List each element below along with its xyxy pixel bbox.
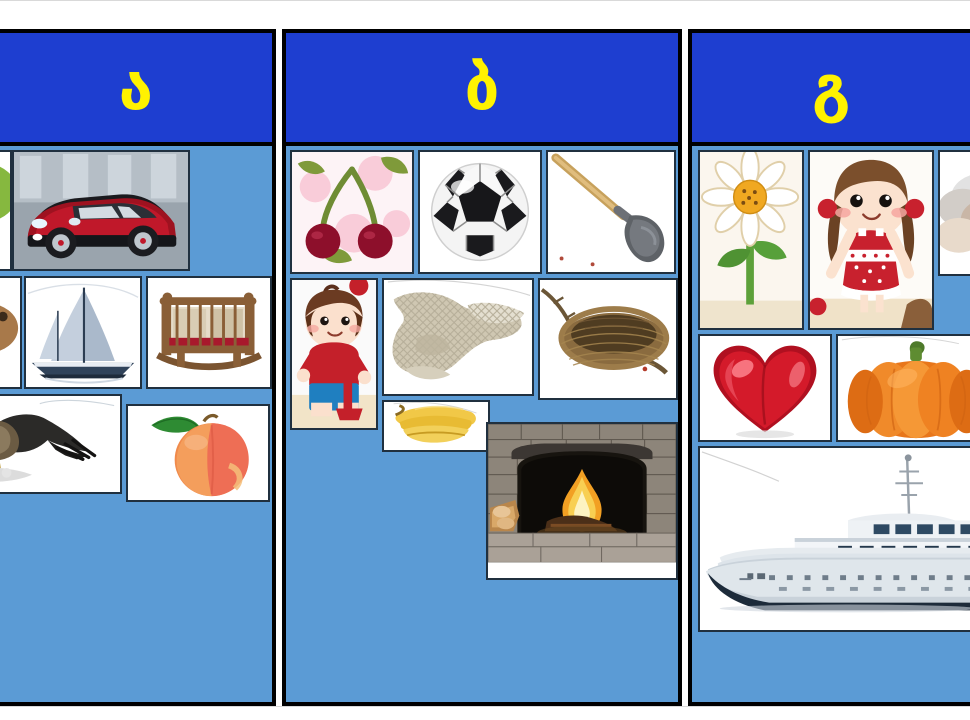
tree-icon xyxy=(0,152,10,269)
ship-art xyxy=(700,448,970,630)
girl-icon xyxy=(810,152,932,328)
daisy-icon xyxy=(700,152,802,328)
picture-tile-car[interactable] xyxy=(12,150,190,271)
ship-icon xyxy=(700,448,970,630)
tree-art xyxy=(0,152,10,269)
daisy-art xyxy=(700,152,802,328)
eagle-art xyxy=(0,396,120,492)
nest-art xyxy=(540,280,676,398)
heart-icon xyxy=(700,336,830,440)
peach-art xyxy=(128,406,268,500)
picture-tile-camel-partial[interactable] xyxy=(0,276,22,389)
column-header-bani: ბ xyxy=(286,33,679,146)
shovel-art xyxy=(548,152,674,272)
cloud-art xyxy=(940,152,970,274)
sailboat-icon xyxy=(26,278,140,387)
pumpkin-icon xyxy=(838,336,970,440)
picture-tile-cherries[interactable] xyxy=(290,150,414,274)
bottom-divider xyxy=(0,706,970,707)
net-art xyxy=(384,280,532,394)
bananas-art xyxy=(384,402,488,450)
picture-tile-cradle[interactable] xyxy=(146,276,272,389)
letter-column-ani[interactable]: ა xyxy=(0,29,276,706)
net-icon xyxy=(384,280,532,394)
nest-icon xyxy=(540,280,676,398)
soccer-ball-art xyxy=(420,152,540,272)
camel-art xyxy=(0,278,20,387)
picture-tile-heart[interactable] xyxy=(698,334,832,442)
picture-tile-nest[interactable] xyxy=(538,278,678,400)
cherries-art xyxy=(292,152,412,272)
picture-tile-soccer-ball[interactable] xyxy=(418,150,542,274)
letter-board: ა xyxy=(0,29,970,706)
pumpkin-art xyxy=(838,336,970,440)
column-body-gani xyxy=(692,146,970,702)
picture-tile-shovel[interactable] xyxy=(546,150,676,274)
fireplace-art xyxy=(488,424,676,578)
picture-tile-eagle[interactable] xyxy=(0,394,122,494)
picture-tile-net[interactable] xyxy=(382,278,534,396)
picture-tile-daisy[interactable] xyxy=(698,150,804,330)
car-art xyxy=(14,152,188,269)
worksheet-page: ა xyxy=(0,0,970,720)
peach-icon xyxy=(128,406,268,500)
fireplace-icon xyxy=(488,424,676,578)
picture-tile-boy[interactable] xyxy=(290,278,378,430)
top-divider xyxy=(0,0,970,1)
picture-tile-peach[interactable] xyxy=(126,404,270,502)
soccer-ball-icon xyxy=(420,152,540,272)
letter-column-bani[interactable]: ბ xyxy=(282,29,683,706)
picture-tile-cloud-partial[interactable] xyxy=(938,150,970,276)
column-body-ani xyxy=(0,146,272,702)
boy-art xyxy=(292,280,376,428)
picture-tile-girl[interactable] xyxy=(808,150,934,330)
picture-tile-sailboat[interactable] xyxy=(24,276,142,389)
cherries-icon xyxy=(292,152,412,272)
sailboat-art xyxy=(26,278,140,387)
letter-column-gani[interactable]: გ xyxy=(688,29,970,706)
car-icon xyxy=(14,152,188,269)
picture-tile-tree-partial[interactable] xyxy=(0,150,12,271)
column-body-bani xyxy=(286,146,679,702)
picture-tile-bananas[interactable] xyxy=(382,400,490,452)
picture-tile-pumpkin[interactable] xyxy=(836,334,970,442)
letter-glyph-ani: ა xyxy=(119,57,153,119)
heart-art xyxy=(700,336,830,440)
shovel-icon xyxy=(548,152,674,272)
column-header-ani: ა xyxy=(0,33,272,146)
picture-tile-ship[interactable] xyxy=(698,446,970,632)
boy-icon xyxy=(292,280,376,428)
letter-glyph-gani: გ xyxy=(812,57,851,119)
cloud-icon xyxy=(940,152,970,274)
bananas-icon xyxy=(384,402,488,450)
cradle-art xyxy=(148,278,270,387)
camel-icon xyxy=(0,278,20,387)
girl-art xyxy=(810,152,932,328)
cradle-icon xyxy=(148,278,270,387)
picture-tile-fireplace[interactable] xyxy=(486,422,678,580)
eagle-icon xyxy=(0,396,120,492)
column-header-gani: გ xyxy=(692,33,970,146)
letter-glyph-bani: ბ xyxy=(465,57,500,119)
